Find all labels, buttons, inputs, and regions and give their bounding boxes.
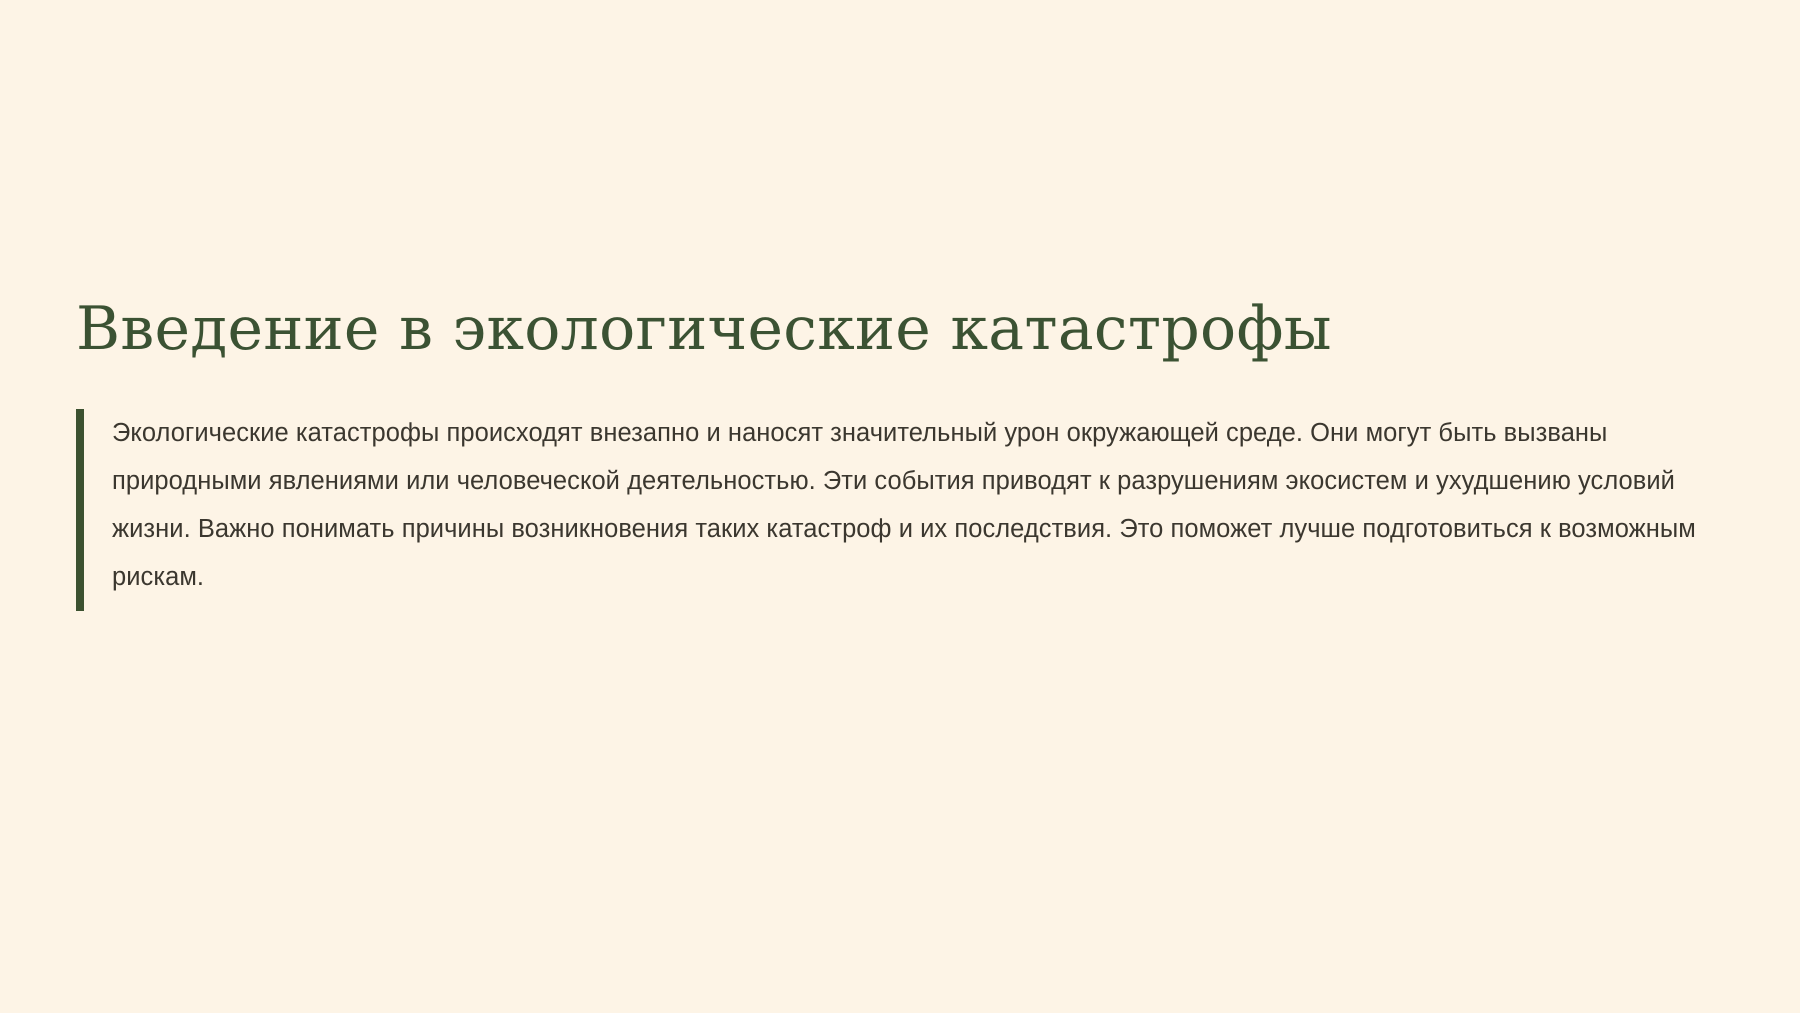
body-paragraph: Экологические катастрофы происходят внез… bbox=[112, 409, 1730, 601]
slide-canvas: Введение в экологические катастрофы Экол… bbox=[0, 0, 1800, 1013]
slide-content-block: Введение в экологические катастрофы Экол… bbox=[76, 296, 1736, 601]
accent-bar bbox=[76, 409, 84, 611]
page-title: Введение в экологические катастрофы bbox=[76, 296, 1736, 363]
body-section: Экологические катастрофы происходят внез… bbox=[76, 409, 1736, 601]
